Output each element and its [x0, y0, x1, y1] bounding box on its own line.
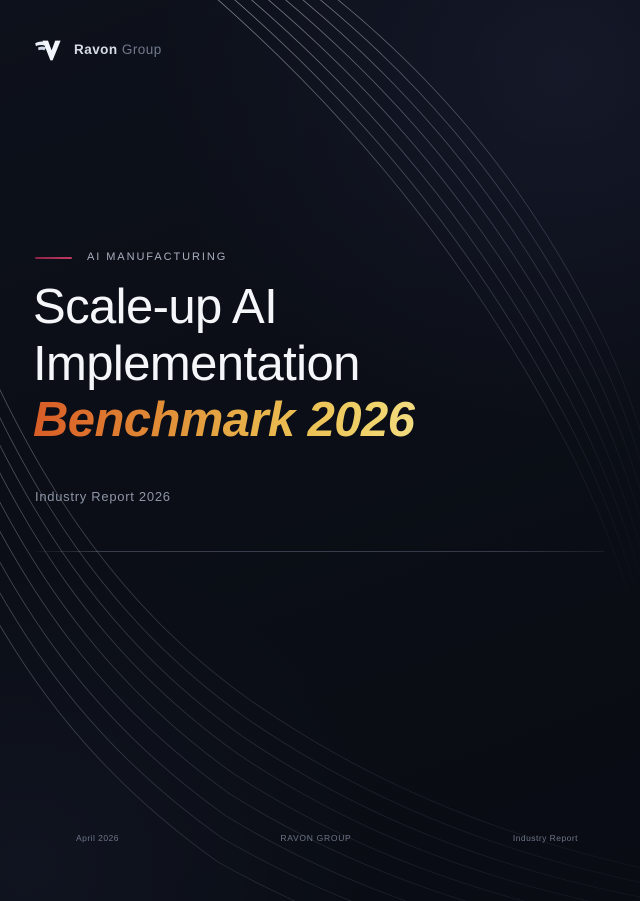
title-accent-line: Benchmark 2026	[33, 392, 420, 449]
page-title: Scale-up AI Implementation Benchmark 202…	[33, 279, 593, 449]
title-line-1: Scale-up AI	[33, 279, 593, 336]
ravon-v-mark-icon	[33, 36, 63, 64]
eyebrow: AI MANUFACTURING	[35, 252, 227, 263]
footer: April 2026 RAVON GROUP Industry Report	[36, 834, 604, 843]
title-line-2: Implementation	[33, 336, 593, 393]
footer-document-type: Industry Report	[513, 834, 578, 843]
brand-wordmark: Ravon Group	[74, 43, 162, 57]
eyebrow-rule	[35, 257, 72, 259]
brand-lockup: Ravon Group	[33, 36, 162, 64]
eyebrow-label: AI MANUFACTURING	[87, 252, 227, 263]
horizontal-divider	[36, 551, 604, 552]
subtitle: Industry Report 2026	[35, 490, 171, 503]
decorative-curve-lines	[0, 0, 640, 901]
report-cover-page: Ravon Group AI MANUFACTURING Scale-up AI…	[0, 0, 640, 901]
brand-name-secondary: Group	[122, 42, 162, 57]
brand-name-primary: Ravon	[74, 42, 118, 57]
footer-date: April 2026	[76, 834, 119, 843]
footer-organization: RAVON GROUP	[119, 834, 513, 843]
